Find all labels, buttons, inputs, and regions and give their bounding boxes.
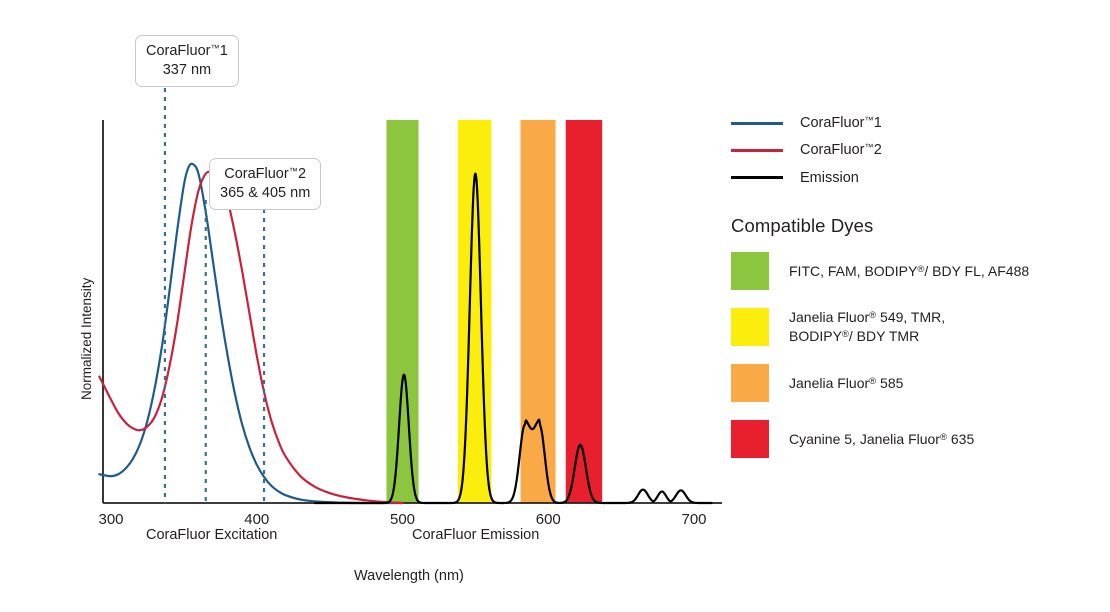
registered-glyph: ® (940, 432, 947, 443)
dye-label-green: FITC, FAM, BODIPY®/ BDY FL, AF488 (789, 262, 1029, 281)
trademark-glyph: ™ (864, 115, 873, 125)
curve-emission (315, 174, 711, 503)
legend-line-swatch-corafluor2 (731, 149, 783, 152)
trademark-glyph: ™ (210, 43, 219, 53)
registered-glyph: ® (842, 329, 849, 340)
emission-region-label: CoraFluor Emission (412, 527, 539, 543)
red-band (566, 120, 602, 503)
x-tick-label-500: 500 (390, 511, 415, 528)
callout-corafluor2-line2: 365 & 405 nm (220, 184, 310, 203)
trademark-glyph: ™ (864, 142, 873, 152)
dye-row-yellow: Janelia Fluor® 549, TMR, BODIPY®/ BDY TM… (731, 299, 1101, 355)
dye-row-red: Cyanine 5, Janelia Fluor® 635 (731, 411, 1101, 467)
legend-item-corafluor1: CoraFluor™1 (731, 110, 1101, 137)
dye-swatch-yellow (731, 308, 769, 346)
compatible-dyes-title: Compatible Dyes (731, 215, 1101, 237)
callout-corafluor2-line1: CoraFluor™2 (220, 165, 310, 184)
curve-corafluor1 (99, 164, 402, 503)
dye-label-orange: Janelia Fluor® 585 (789, 374, 903, 393)
legend-label-corafluor1: CoraFluor™1 (800, 115, 882, 131)
callout-corafluor1-line1: CoraFluor™1 (146, 42, 228, 61)
y-axis-title: Normalized Intensity (79, 278, 94, 400)
dye-row-orange: Janelia Fluor® 585 (731, 355, 1101, 411)
x-tick-label-600: 600 (536, 511, 561, 528)
x-axis-title: Wavelength (nm) (354, 568, 464, 584)
legend-label-corafluor2: CoraFluor™2 (800, 142, 882, 158)
dye-swatch-green (731, 252, 769, 290)
legend-panel: CoraFluor™1 CoraFluor™2 Emission Compati… (731, 110, 1101, 467)
legend-item-corafluor2: CoraFluor™2 (731, 137, 1101, 164)
dye-row-green: FITC, FAM, BODIPY®/ BDY FL, AF488 (731, 243, 1101, 299)
dye-swatch-red (731, 420, 769, 458)
dye-label-red: Cyanine 5, Janelia Fluor® 635 (789, 430, 974, 449)
x-tick-label-400: 400 (244, 511, 269, 528)
x-tick-label-300: 300 (98, 511, 123, 528)
orange-band (521, 120, 556, 503)
green-band (386, 120, 418, 503)
dye-swatch-orange (731, 364, 769, 402)
callout-corafluor1-line2: 337 nm (146, 61, 228, 80)
callout-corafluor1: CoraFluor™1 337 nm (135, 35, 239, 87)
fluorescence-spectra-figure: 300400500600700 CoraFluor™1 337 nm CoraF… (0, 0, 1110, 612)
excitation-region-label: CoraFluor Excitation (146, 527, 277, 543)
trademark-glyph: ™ (289, 166, 298, 176)
x-tick-label-700: 700 (681, 511, 706, 528)
legend-line-swatch-emission (731, 176, 783, 179)
dye-label-yellow: Janelia Fluor® 549, TMR, BODIPY®/ BDY TM… (789, 308, 945, 346)
callout-corafluor2: CoraFluor™2 365 & 405 nm (209, 158, 321, 210)
legend-line-swatch-corafluor1 (731, 122, 783, 125)
legend-item-emission: Emission (731, 164, 1101, 191)
legend-label-emission: Emission (800, 170, 859, 186)
